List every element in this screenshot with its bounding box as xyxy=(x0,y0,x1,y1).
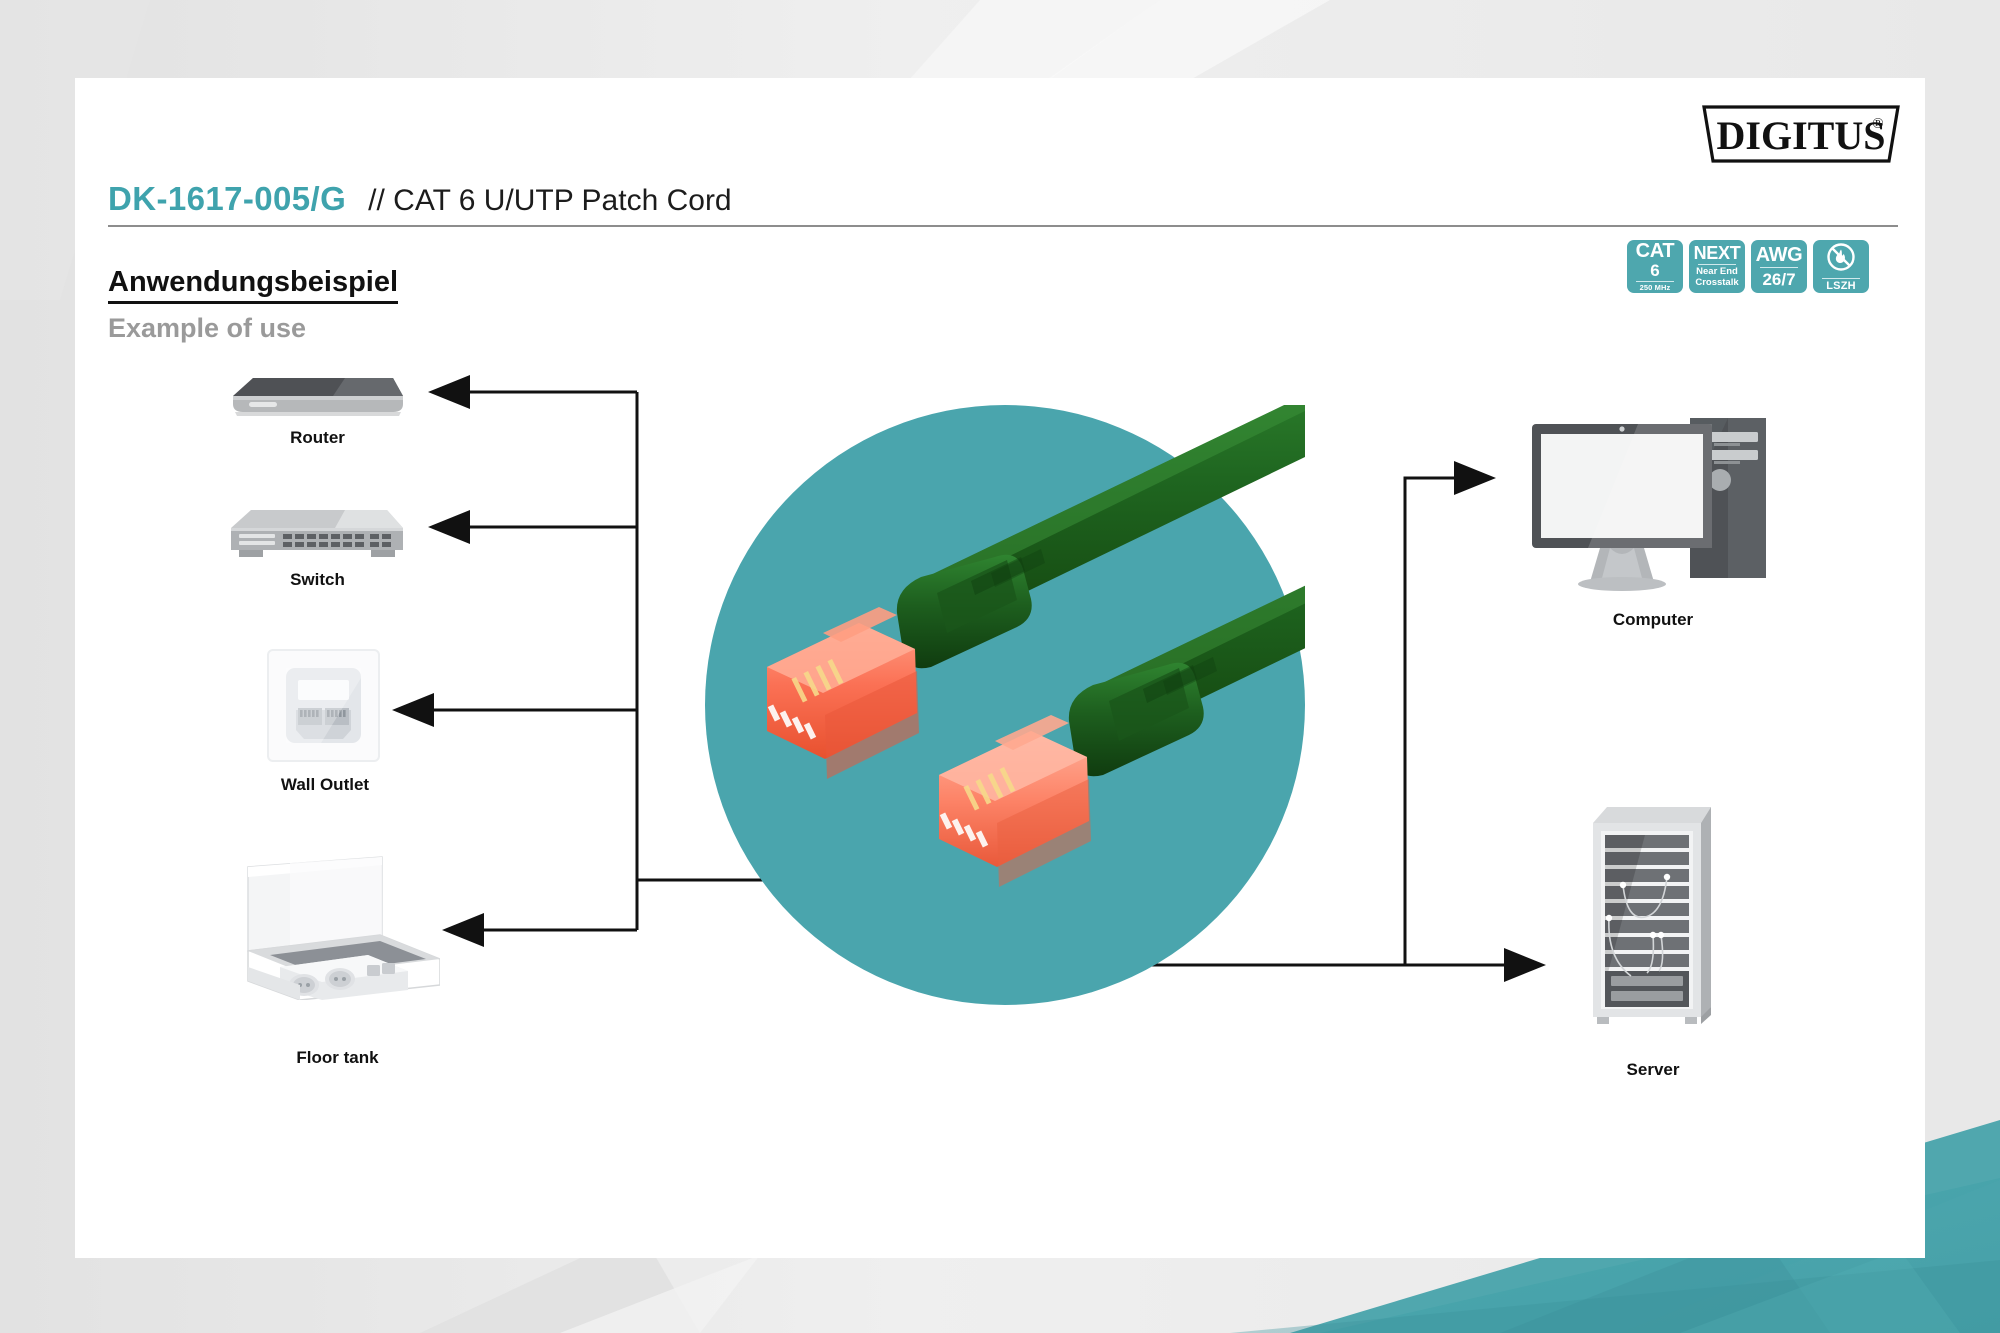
router-label: Router xyxy=(225,428,410,448)
application-diagram: Router Switch xyxy=(0,0,2000,1333)
switch-label: Switch xyxy=(225,570,410,590)
server-icon xyxy=(1583,795,1723,1045)
product-image xyxy=(705,405,1305,1005)
computer-label: Computer xyxy=(1528,610,1778,630)
computer-icon xyxy=(1528,410,1778,600)
router-icon xyxy=(225,362,410,422)
server-label: Server xyxy=(1583,1060,1723,1080)
wall-outlet-icon xyxy=(266,648,381,763)
switch-icon xyxy=(225,502,410,560)
wall-outlet-label: Wall Outlet xyxy=(240,775,410,795)
floor-tank-icon xyxy=(230,855,440,1000)
floor-tank-label: Floor tank xyxy=(240,1048,435,1068)
